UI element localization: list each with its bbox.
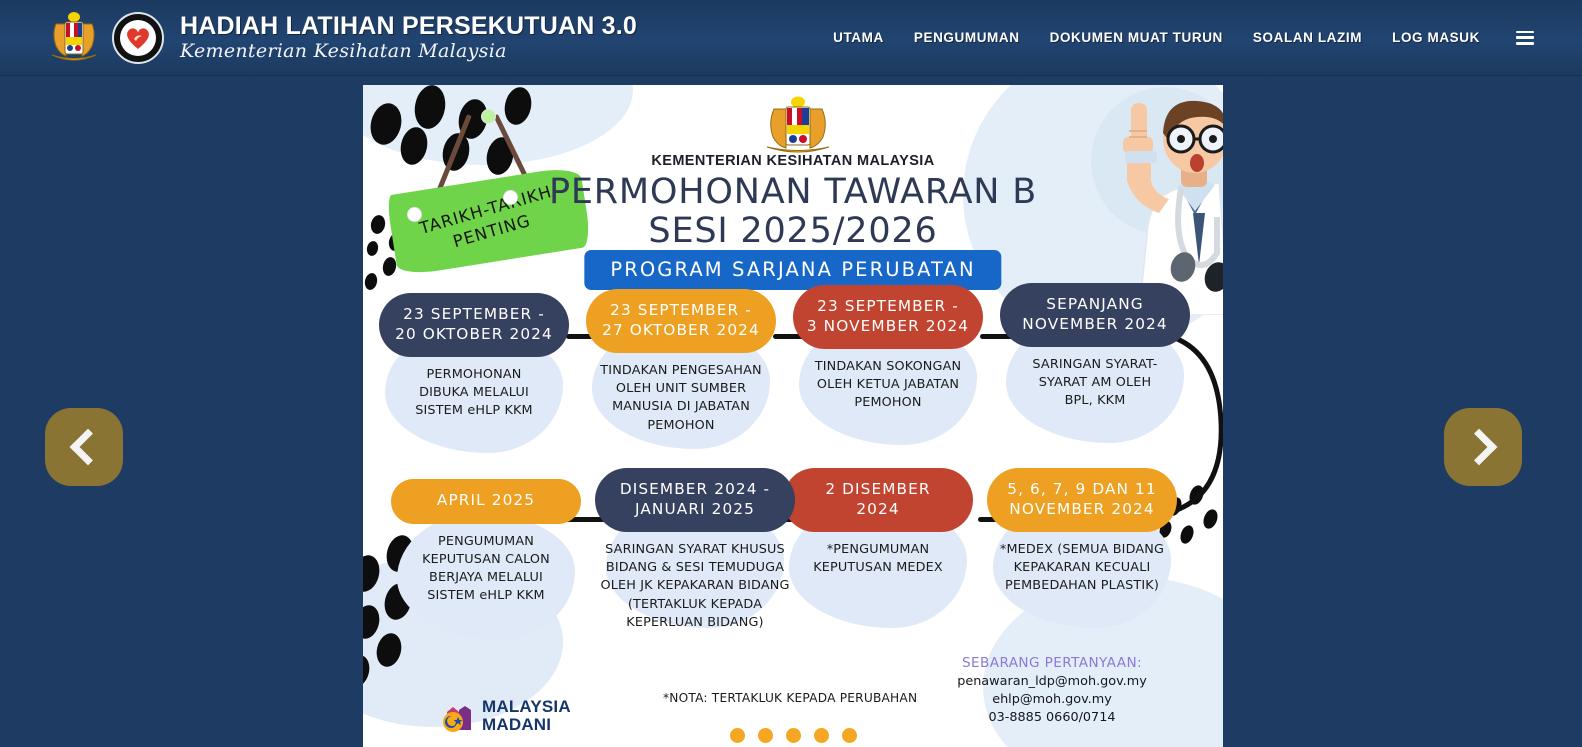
chevron-right-icon — [1461, 429, 1498, 466]
step-description: TINDAKAN PENGESAHANOLEH UNIT SUMBERMANUS… — [586, 362, 776, 435]
step-description: *MEDEX (SEMUA BIDANGKEPAKARAN KECUALIPEM… — [987, 541, 1177, 595]
timeline-step: SEPANJANGNOVEMBER 2024 SARINGAN SYARAT-S… — [1000, 283, 1190, 411]
carousel-slide-poster[interactable]: TARIKH-TARIKH PENTING — [363, 85, 1223, 747]
madani-line1: MALAYSIA — [482, 698, 571, 715]
timeline-step: APRIL 2025 PENGUMUMANKEPUTUSAN CALONBERJ… — [391, 479, 581, 605]
poster-ministry-label: KEMENTERIAN KESIHATAN MALAYSIA — [363, 153, 1223, 169]
site-header: HADIAH LATIHAN PERSEKUTUAN 3.0 Kementeri… — [0, 0, 1582, 76]
nav-item-log-masuk[interactable]: LOG MASUK — [1392, 30, 1480, 45]
poster-coat-of-arms-icon — [759, 95, 837, 157]
step-date-pill: 23 SEPTEMBER -3 NOVEMBER 2024 — [793, 285, 983, 349]
chevron-left-icon — [70, 429, 107, 466]
timeline-step: 23 SEPTEMBER -27 OKTOBER 2024 TINDAKAN P… — [586, 289, 776, 435]
carousel-next-button[interactable] — [1444, 408, 1522, 486]
poster-title-line2: SESI 2025/2026 — [363, 212, 1223, 251]
brand-line1: HADIAH LATIHAN PERSEKUTUAN 3.0 — [180, 14, 637, 39]
carousel-dot[interactable] — [786, 728, 801, 743]
brand-line2: Kementerian Kesihatan Malaysia — [180, 42, 637, 61]
hamburger-menu-icon[interactable] — [1516, 31, 1534, 45]
step-description: SARINGAN SYARAT KHUSUSBIDANG & SESI TEMU… — [595, 541, 795, 632]
step-date-pill: DISEMBER 2024 -JANUARI 2025 — [595, 468, 795, 532]
step-description: PERMOHONANDIBUKA MELALUISISTEM eHLP KKM — [379, 366, 569, 420]
malaysia-coat-of-arms-icon — [42, 9, 106, 67]
kkm-heart-seal-icon — [112, 12, 164, 64]
step-description: PENGUMUMANKEPUTUSAN CALONBERJAYA MELALUI… — [391, 533, 581, 606]
carousel-dot[interactable] — [814, 728, 829, 743]
contact-phone: 03-8885 0660/0714 — [887, 709, 1217, 727]
timeline-step: 23 SEPTEMBER -3 NOVEMBER 2024 TINDAKAN S… — [793, 285, 983, 413]
contact-email-2: ehlp@moh.gov.my — [887, 691, 1217, 709]
carousel-stage: TARIKH-TARIKH PENTING — [0, 76, 1582, 747]
contact-block: SEBARANG PERTANYAAN: penawaran_ldp@moh.g… — [887, 655, 1217, 727]
main-navigation: UTAMA PENGUMUMAN DOKUMEN MUAT TURUN SOAL… — [833, 30, 1534, 45]
nav-item-soalan-lazim[interactable]: SOALAN LAZIM — [1253, 30, 1362, 45]
poster-title: PERMOHONAN TAWARAN B SESI 2025/2026 — [363, 173, 1223, 251]
decor-dot — [1178, 524, 1196, 546]
step-date-pill: 23 SEPTEMBER -27 OKTOBER 2024 — [586, 289, 776, 353]
carousel-dot[interactable] — [758, 728, 773, 743]
carousel-prev-button[interactable] — [45, 408, 123, 486]
brand-logo-group[interactable]: HADIAH LATIHAN PERSEKUTUAN 3.0 Kementeri… — [42, 9, 637, 67]
poster-program-badge: PROGRAM SARJANA PERUBATAN — [584, 250, 1001, 290]
nav-item-pengumuman[interactable]: PENGUMUMAN — [914, 30, 1020, 45]
contact-email-1: penawaran_ldp@moh.gov.my — [887, 673, 1217, 691]
carousel-dot[interactable] — [730, 728, 745, 743]
step-description: *PENGUMUMANKEPUTUSAN MEDEX — [783, 541, 973, 577]
nav-item-dokumen-muat-turun[interactable]: DOKUMEN MUAT TURUN — [1050, 30, 1223, 45]
step-description: SARINGAN SYARAT-SYARAT AM OLEHBPL, KKM — [1000, 356, 1190, 410]
nav-item-utama[interactable]: UTAMA — [833, 30, 884, 45]
step-date-pill: SEPANJANGNOVEMBER 2024 — [1000, 283, 1190, 347]
timeline-step: 2 DISEMBER2024 *PENGUMUMANKEPUTUSAN MEDE… — [783, 468, 973, 577]
timeline-step: 23 SEPTEMBER -20 OKTOBER 2024 PERMOHONAN… — [379, 293, 569, 421]
tag-eyelet — [481, 109, 496, 124]
contact-heading: SEBARANG PERTANYAAN: — [887, 655, 1217, 671]
timeline-step: 5, 6, 7, 9 DAN 11NOVEMBER 2024 *MEDEX (S… — [987, 468, 1177, 596]
step-date-pill: APRIL 2025 — [391, 479, 581, 524]
carousel-dots — [363, 728, 1223, 743]
poster-note: *NOTA: TERTAKLUK KEPADA PERUBAHAN — [663, 691, 917, 705]
decor-dot — [363, 272, 378, 291]
step-date-pill: 2 DISEMBER2024 — [783, 468, 973, 532]
brand-text: HADIAH LATIHAN PERSEKUTUAN 3.0 Kementeri… — [180, 14, 637, 61]
step-date-pill: 23 SEPTEMBER -20 OKTOBER 2024 — [379, 293, 569, 357]
step-date-pill: 5, 6, 7, 9 DAN 11NOVEMBER 2024 — [987, 468, 1177, 532]
step-description: TINDAKAN SOKONGANOLEH KETUA JABATANPEMOH… — [793, 358, 983, 412]
timeline-step: DISEMBER 2024 -JANUARI 2025 SARINGAN SYA… — [595, 468, 795, 632]
poster-title-line1: PERMOHONAN TAWARAN B — [363, 173, 1223, 212]
carousel-dot[interactable] — [842, 728, 857, 743]
